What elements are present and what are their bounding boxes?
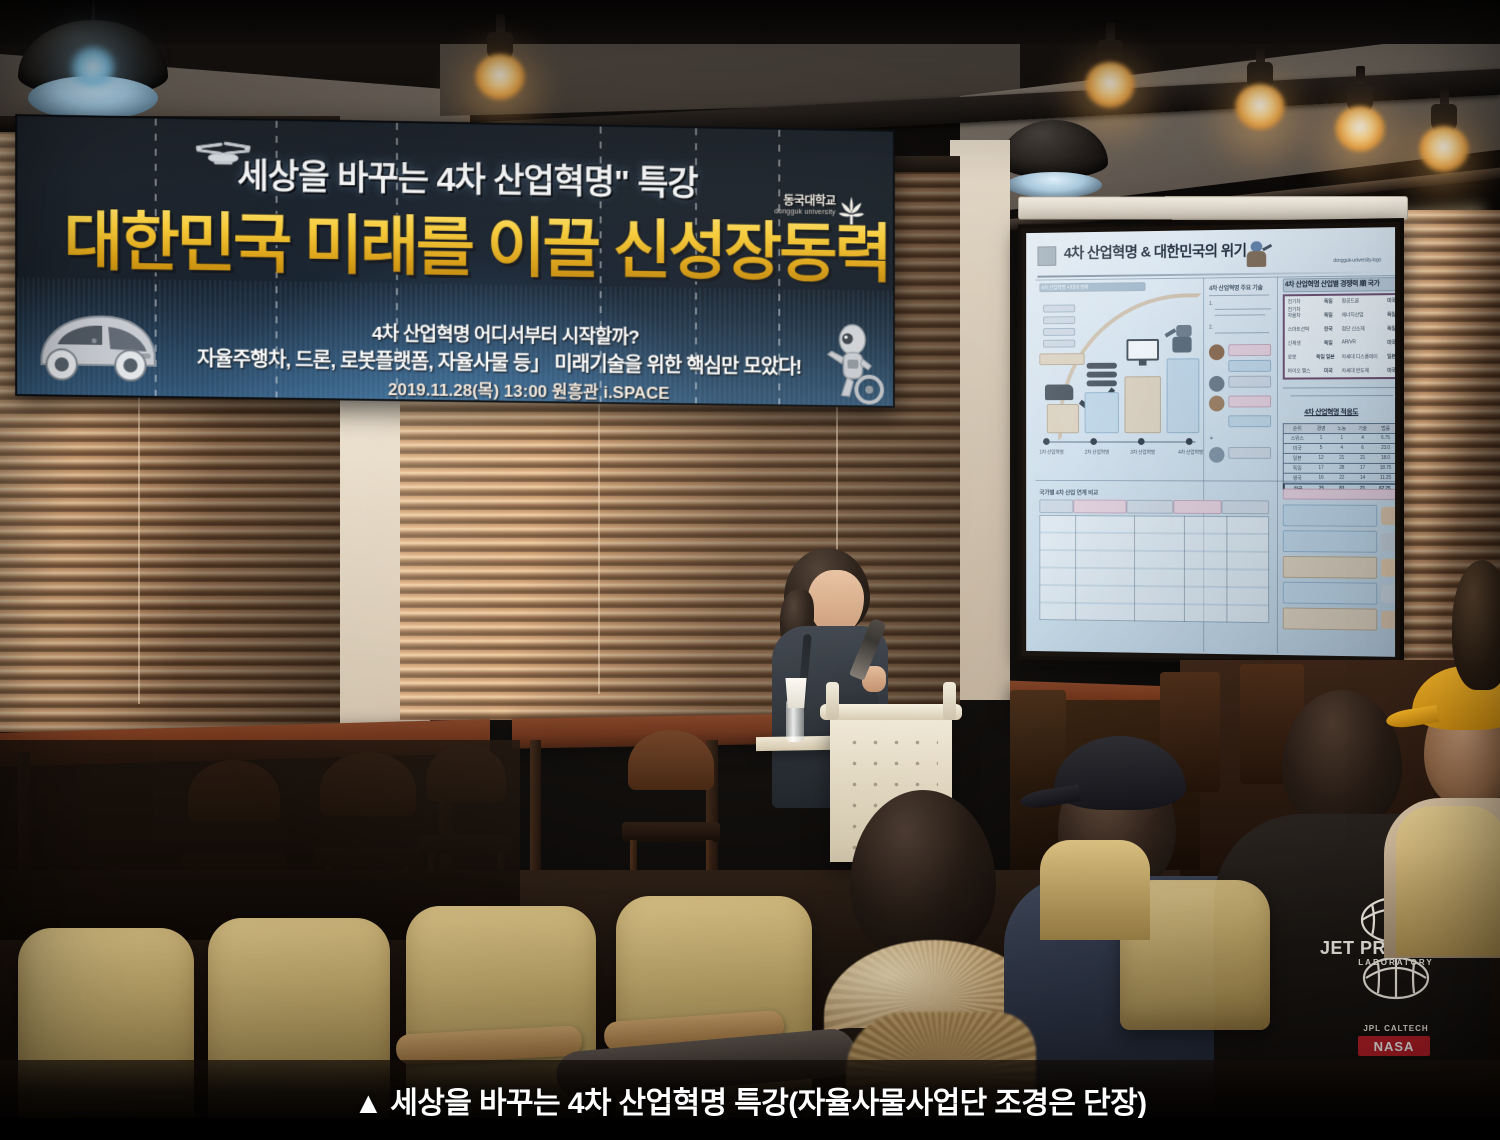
paper-cup[interactable]	[784, 678, 808, 708]
presentation-slide: 4차 산업혁명 & 대한민국의 위기 dongguk-university-lo…	[1026, 227, 1395, 657]
adapt-row: 미국 5 4 6 23.0	[1283, 444, 1395, 454]
slide-center-chip-3	[1228, 376, 1271, 388]
slide-timeline-label-1: 1차 산업혁명	[1039, 449, 1063, 456]
comp-cell-left-6: 바이오 헬스	[1288, 368, 1311, 375]
university-name-kr: 동국대학교	[774, 191, 835, 209]
podium-lip	[820, 704, 962, 720]
podium-post-left	[826, 682, 839, 720]
slide-bottomright-icon-4	[1381, 585, 1395, 603]
slide-center-footnote: ＊	[1209, 435, 1214, 442]
adapt-th-1: 경영	[1311, 424, 1332, 433]
comp-cell-lflag-3: 한국	[1324, 326, 1333, 333]
university-name-en: dongguk university	[774, 208, 835, 216]
comp-cell-left-4: 신재생	[1288, 340, 1301, 347]
slide-center-icon-1	[1209, 344, 1224, 360]
slide-legend-chip-1	[1043, 304, 1075, 312]
slide-comp-header: 4차 산업혁명 산업별 경쟁력 順 국가	[1285, 278, 1380, 289]
slide-center-rule-2	[1215, 308, 1271, 310]
comp-cell-lflag-2: 독일	[1324, 312, 1333, 319]
adapt-header-row: 순위 경영 노동 기술 법률	[1283, 423, 1395, 434]
slide-era-block-3	[1125, 376, 1161, 433]
slide-bottomright-row-5	[1283, 607, 1377, 630]
lamp-bulb	[1085, 62, 1135, 108]
comp-cell-right-5: 차세대 디스플레이	[1342, 353, 1378, 360]
slide-center-chip-4	[1228, 395, 1271, 407]
comp-cell-rflag-3: 독일	[1387, 325, 1395, 332]
slide-legend-chip-3	[1043, 328, 1075, 336]
comp-cell-rflag-4: 미국	[1387, 339, 1395, 346]
adapt-row: 독일 17 28 17 18.75	[1283, 464, 1395, 474]
black-baseball-cap	[1054, 736, 1186, 810]
lamp-bulb	[70, 46, 116, 88]
slide-train-icon	[1045, 384, 1073, 400]
slide-bottomright-row-2	[1283, 530, 1377, 553]
audience-chair-7[interactable]	[1396, 806, 1500, 956]
dongguk-university-logo: 동국대학교 dongguk university	[774, 191, 835, 216]
comp-cell-rflag-1: 미국	[1387, 297, 1395, 304]
slide-computer-icon	[1126, 339, 1159, 369]
caption-bottom-strip	[0, 1118, 1500, 1140]
slide-content-grid: 4차 산업혁명 시대의 변화	[1036, 275, 1386, 648]
projector-screen-housing	[1018, 196, 1408, 220]
slide-legend-box	[1039, 353, 1084, 365]
slide-center-panel-label: 4차 산업혁명 주요 기술	[1209, 283, 1263, 293]
adapt-row: 일본 12 21 21 18.0	[1283, 454, 1395, 464]
adapt-th-4: 법률	[1373, 424, 1395, 433]
slide-bottomright-header	[1283, 489, 1395, 500]
slide-center-chip-1	[1228, 344, 1271, 356]
autonomous-car-icon	[31, 294, 162, 392]
slide-center-icon-2	[1209, 376, 1224, 392]
lamp-bulb	[475, 54, 525, 100]
adapt-th-2: 노동	[1331, 424, 1352, 433]
slide-comp-note-rule-2	[1291, 395, 1393, 396]
slide-title-bar: 4차 산업혁명 & 대한민국의 위기	[1037, 237, 1383, 275]
slide-left-panel-label: 4차 산업혁명 시대의 변화	[1041, 284, 1088, 291]
nasa-badge: NASA	[1358, 1036, 1430, 1056]
slide-comp-note-rule-1	[1283, 387, 1395, 388]
adapt-th-3: 기술	[1352, 424, 1373, 433]
slide-timeline-label-3: 3차 산업혁명	[1130, 449, 1155, 456]
photo-scene: 4차 산업혁명 & 대한민국의 위기 dongguk-university-lo…	[0, 0, 1500, 1140]
slide-factory-icon	[1087, 363, 1117, 391]
slide-bottomright-row-4	[1283, 582, 1377, 605]
slide-timeline-dot-1	[1043, 438, 1050, 445]
audience-head	[1282, 690, 1402, 830]
slide-legend-chip-2	[1043, 316, 1075, 324]
audience-chair-6[interactable]	[1040, 840, 1150, 940]
slide-bottom-table: 국가별 4차 산업 연계 비교	[1039, 488, 1269, 637]
slide-presenter-clipart	[1244, 241, 1269, 273]
slide-era-block-2	[1085, 392, 1119, 433]
slide-logo: dongguk-university-logo	[1333, 257, 1381, 264]
slide-timeline-dot-3	[1138, 438, 1145, 445]
comp-cell-right-2: 에너지산업	[1342, 311, 1364, 318]
comp-cell-right-3: 첨단 신소재	[1342, 325, 1365, 332]
slide-legend-chip-4	[1043, 340, 1075, 348]
projection-screen: 4차 산업혁명 & 대한민국의 위기 dongguk-university-lo…	[1018, 218, 1404, 666]
slide-divider-vert-2	[1277, 277, 1278, 653]
lamp-bulb	[1235, 84, 1285, 130]
comp-cell-lflag-4: 독일	[1324, 340, 1333, 347]
caption-text: ▲ 세상을 바꾸는 4차 산업혁명 특강(자율사물사업단 조경은 단장)	[353, 1078, 1146, 1122]
slide-robot-arm-icon	[1169, 325, 1196, 359]
robot-mascot-icon	[820, 321, 889, 407]
banner-datetime-venue: 2019.11.28(목) 13:00 원흥관 i.SPACE	[388, 375, 670, 404]
slide-era-block-4	[1167, 358, 1200, 433]
slide-center-chip-2	[1228, 360, 1271, 372]
comp-cell-right-1: 항공드론	[1342, 297, 1359, 304]
slide-era-block-1	[1047, 404, 1079, 433]
slide-center-icon-4	[1209, 447, 1224, 463]
adapt-row: 스위스 1 1 4 6.75	[1283, 434, 1395, 444]
slide-center-rule-4	[1215, 332, 1269, 333]
slide-center-chip-5	[1228, 415, 1271, 427]
lotus-emblem-icon	[838, 194, 866, 224]
comp-cell-lflag-1: 독일	[1324, 298, 1333, 305]
podium-post-right	[943, 682, 956, 720]
slide-timeline-label-2: 2차 산업혁명	[1085, 449, 1109, 456]
slide-timeline-dot-2	[1090, 438, 1097, 445]
stool-back	[628, 730, 714, 790]
slide-bottomright-icon-3	[1381, 559, 1395, 577]
comp-cell-right-6: 차세대 반도체	[1342, 367, 1369, 374]
stool-seat	[622, 822, 720, 842]
slide-bottomright-row-1	[1283, 504, 1377, 526]
slide-center-chip-6	[1228, 447, 1271, 459]
slide-bottomright-row-3	[1283, 556, 1377, 579]
slide-center-icon-3	[1209, 396, 1224, 412]
jpl-line2: LABORATORY	[1342, 958, 1450, 967]
adapt-th-0: 순위	[1284, 424, 1311, 433]
comp-cell-lflag-5: 독일 일본	[1316, 353, 1334, 360]
comp-cell-right-4: AR/VR	[1342, 339, 1356, 345]
lamp-cord	[92, 0, 95, 22]
slide-adaptation-table: 순위 경영 노동 기술 법률 스위스 1 1 4 6.75 미국	[1283, 423, 1395, 496]
slide-competitiveness-table: 전기차 전기차 독일 항공드론 미국 자율차 독일 에너지산업 독일 스마트선박…	[1283, 293, 1395, 380]
slide-timeline-label-4: 4차 산업혁명	[1178, 449, 1203, 456]
slide-title: 4차 산업혁명 & 대한민국의 위기	[1064, 239, 1247, 262]
comp-cell-left-3: 스마트선박	[1288, 326, 1310, 333]
comp-cell-left-1: 전기차	[1288, 298, 1301, 305]
ceiling-dark-strip	[0, 0, 1500, 44]
jpl-line3: JPL CALTECH	[1342, 1024, 1450, 1033]
banner-headline: 대한민국 미래를 이끌 신성장동력	[64, 189, 890, 294]
event-banner: 세상을 바꾸는 4차 산업혁명" 특강 대한민국 미래를 이끌 신성장동력 4차…	[15, 114, 895, 408]
comp-cell-left-2: 자율차	[1288, 312, 1301, 319]
slide-center-rule-3	[1215, 314, 1265, 315]
audience-member-partial-right	[1452, 560, 1500, 690]
slide-timeline-axis	[1043, 441, 1195, 443]
slide-bottomright-icon-2	[1381, 533, 1395, 551]
lamp-bulb	[1335, 106, 1385, 152]
lamp-bulb	[1419, 126, 1469, 172]
slide-title-square-icon	[1037, 246, 1056, 266]
slide-center-rule-1	[1209, 295, 1269, 297]
slide-adapt-header: 4차 산업혁명 적응도	[1304, 407, 1358, 417]
slide-timeline-dot-4	[1186, 438, 1193, 445]
comp-cell-rflag-5: 일본	[1387, 353, 1395, 360]
slide-bottomright-icon-1	[1381, 507, 1395, 525]
comp-cell-left-5: 로봇	[1288, 354, 1297, 361]
comp-cell-rflag-6: 미국	[1387, 367, 1395, 374]
slide-bottomright-icon-5	[1381, 611, 1395, 629]
adapt-row: 영국 16 22 14 11.25	[1283, 474, 1395, 484]
comp-cell-rflag-2: 독일	[1387, 311, 1395, 318]
lamp-reflector	[1006, 172, 1102, 198]
comp-cell-lflag-6: 미국	[1324, 367, 1333, 374]
audience-head	[850, 790, 996, 962]
